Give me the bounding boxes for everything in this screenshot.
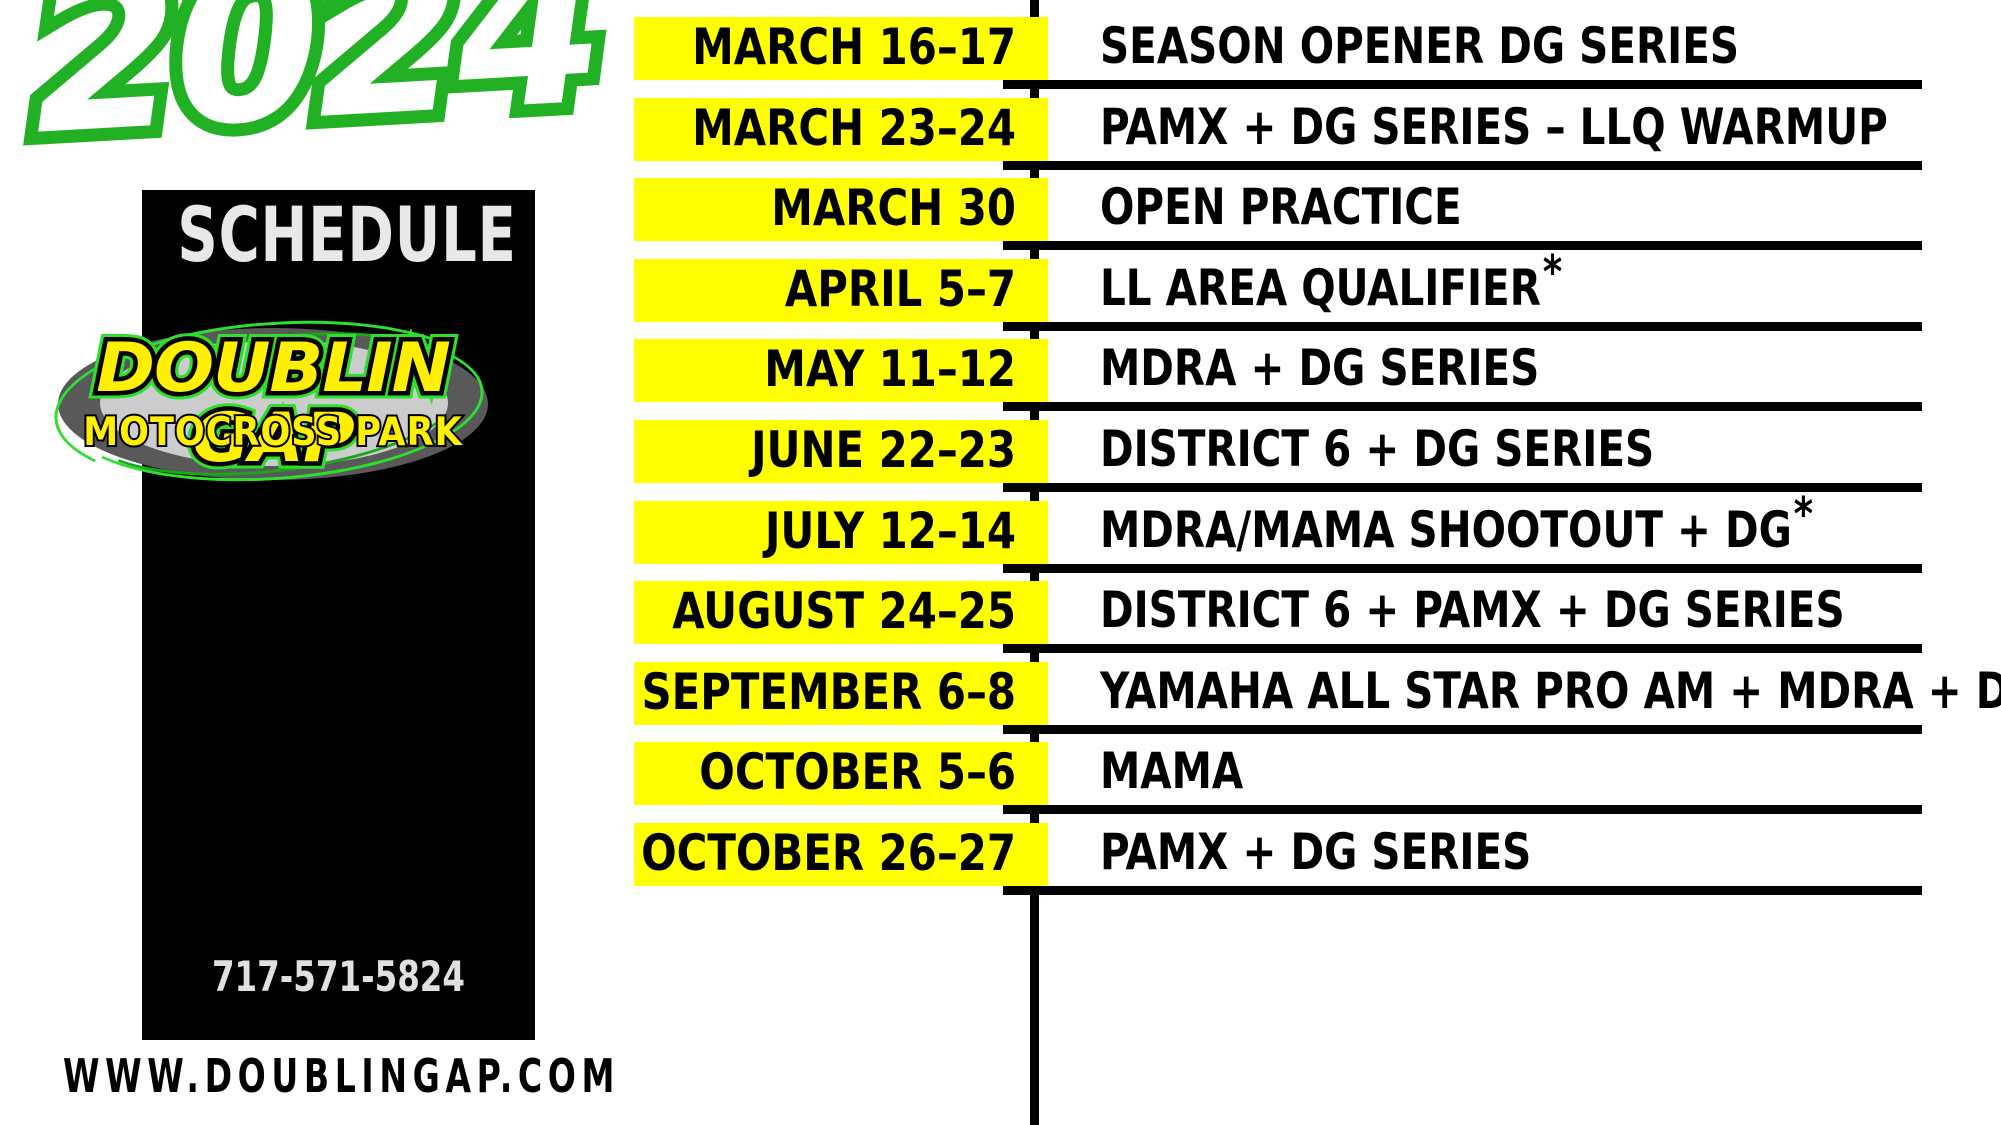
event-name-label: PAMX + DG SERIES – LLQ WARMUP xyxy=(1100,101,1888,153)
event-name-label: LL AREA QUALIFIER xyxy=(1100,262,1541,314)
event-name: MAMA xyxy=(1100,735,1243,807)
event-date: OCTOBER 5–6 xyxy=(661,737,1016,807)
event-name-label: MAMA xyxy=(1100,745,1243,797)
event-name: YAMAHA ALL STAR PRO AM + MDRA + DG* xyxy=(1100,655,2001,727)
schedule-row: OCTOBER 26–27PAMX + DG SERIES xyxy=(0,806,2001,887)
event-name-label: SEASON OPENER DG SERIES xyxy=(1100,20,1739,72)
event-name: PAMX + DG SERIES xyxy=(1100,816,1531,888)
event-date: MARCH 30 xyxy=(661,173,1016,243)
event-name-label: DISTRICT 6 + DG SERIES xyxy=(1100,423,1654,475)
event-name: MDRA + DG SERIES xyxy=(1100,332,1539,404)
schedule-row: MARCH 30OPEN PRACTICE xyxy=(0,161,2001,242)
event-date: SEPTEMBER 6–8 xyxy=(661,657,1016,727)
schedule-row: JUNE 22–23DISTRICT 6 + DG SERIES xyxy=(0,403,2001,484)
event-date: JUNE 22–23 xyxy=(661,415,1016,485)
schedule-row: MARCH 16–17SEASON OPENER DG SERIES xyxy=(0,0,2001,81)
event-name: PAMX + DG SERIES – LLQ WARMUP xyxy=(1100,91,1888,163)
event-name: OPEN PRACTICE xyxy=(1100,171,1462,243)
schedule-row: OCTOBER 5–6MAMA xyxy=(0,725,2001,806)
event-name: LL AREA QUALIFIER* xyxy=(1100,252,1562,324)
schedule-row: AUGUST 24–25DISTRICT 6 + PAMX + DG SERIE… xyxy=(0,564,2001,645)
event-date: MARCH 23–24 xyxy=(661,93,1016,163)
schedule-row: MAY 11–12MDRA + DG SERIES xyxy=(0,322,2001,403)
event-name-label: DISTRICT 6 + PAMX + DG SERIES xyxy=(1100,584,1845,636)
event-name: SEASON OPENER DG SERIES xyxy=(1100,10,1739,82)
event-date: MARCH 16–17 xyxy=(661,12,1016,82)
event-date: AUGUST 24–25 xyxy=(661,576,1016,646)
event-name: DISTRICT 6 + PAMX + DG SERIES xyxy=(1100,574,1845,646)
schedule-row: APRIL 5–7LL AREA QUALIFIER* xyxy=(0,242,2001,323)
row-divider xyxy=(1003,886,1922,895)
event-date: OCTOBER 26–27 xyxy=(661,818,1016,888)
event-name-label: YAMAHA ALL STAR PRO AM + MDRA + DG xyxy=(1100,665,2001,717)
event-date: MAY 11–12 xyxy=(661,334,1016,404)
event-date: JULY 12–14 xyxy=(661,496,1016,566)
event-name: DISTRICT 6 + DG SERIES xyxy=(1100,413,1654,485)
event-name: MDRA/MAMA SHOOTOUT + DG* xyxy=(1100,494,1813,566)
event-date: APRIL 5–7 xyxy=(661,254,1016,324)
event-name-label: MDRA/MAMA SHOOTOUT + DG xyxy=(1100,504,1792,556)
event-name-label: PAMX + DG SERIES xyxy=(1100,826,1531,878)
event-name-label: MDRA + DG SERIES xyxy=(1100,342,1539,394)
schedule-table: MARCH 16–17SEASON OPENER DG SERIESMARCH … xyxy=(0,0,2001,1125)
schedule-row: JULY 12–14MDRA/MAMA SHOOTOUT + DG* xyxy=(0,484,2001,565)
event-name-label: OPEN PRACTICE xyxy=(1100,181,1462,233)
schedule-row: MARCH 23–24PAMX + DG SERIES – LLQ WARMUP xyxy=(0,81,2001,162)
schedule-row: SEPTEMBER 6–8YAMAHA ALL STAR PRO AM + MD… xyxy=(0,645,2001,726)
